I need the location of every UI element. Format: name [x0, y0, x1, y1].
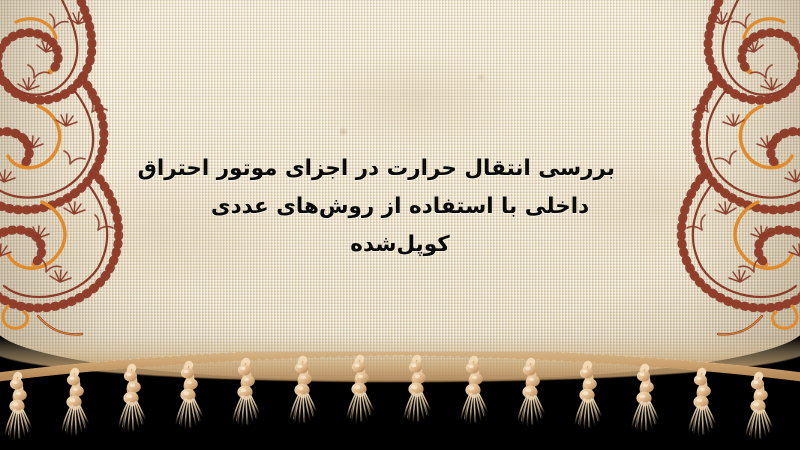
slide-title: بررسی انتقال حرارت در اجزای موتور احتراق…: [185, 150, 615, 264]
slide-canvas: بررسی انتقال حرارت در اجزای موتور احتراق…: [0, 0, 800, 450]
bottom-black-strip: [0, 430, 800, 450]
title-line-3: کوپل‌شده: [185, 226, 615, 264]
title-line-2: داخلی با استفاده از روش‌های عددی: [185, 188, 615, 226]
title-line-1: بررسی انتقال حرارت در اجزای موتور احتراق: [185, 150, 615, 188]
